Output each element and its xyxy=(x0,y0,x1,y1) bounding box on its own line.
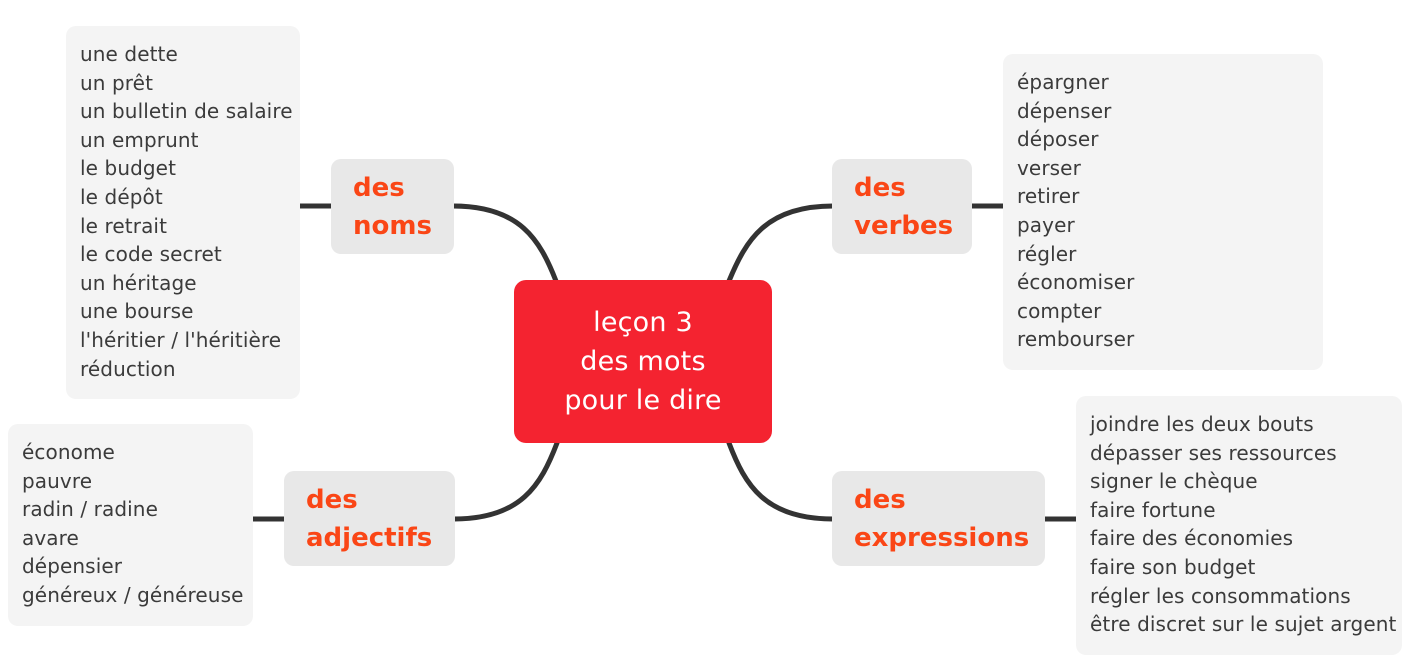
branch-label-adjectifs[interactable]: des adjectifs xyxy=(284,471,455,566)
branch-label-line: adjectifs xyxy=(306,519,432,557)
list-item: économe xyxy=(22,438,233,467)
list-item: faire fortune xyxy=(1090,496,1382,525)
list-item: dépasser ses ressources xyxy=(1090,439,1382,468)
list-item: pauvre xyxy=(22,467,233,496)
list-item: avare xyxy=(22,524,233,553)
list-item: un emprunt xyxy=(80,126,280,155)
list-item: le retrait xyxy=(80,212,280,241)
list-item: généreux / généreuse xyxy=(22,581,233,610)
list-item: une bourse xyxy=(80,297,280,326)
list-item: faire son budget xyxy=(1090,553,1382,582)
branch-label-verbes[interactable]: des verbes xyxy=(832,159,972,254)
branch-label-line: noms xyxy=(353,207,432,245)
leaf-list-adjectifs: économe pauvre radin / radine avare dépe… xyxy=(8,424,253,626)
connector-center-verbes xyxy=(729,206,833,281)
branch-label-line: des xyxy=(854,481,906,519)
list-item: le dépôt xyxy=(80,183,280,212)
leaf-list-noms: une dette un prêt un bulletin de salaire… xyxy=(66,26,300,399)
list-item: retirer xyxy=(1017,182,1303,211)
center-node-line: leçon 3 xyxy=(593,303,693,342)
list-item: joindre les deux bouts xyxy=(1090,410,1382,439)
list-item: faire des économies xyxy=(1090,524,1382,553)
branch-label-noms[interactable]: des noms xyxy=(331,159,454,254)
list-item: le code secret xyxy=(80,240,280,269)
leaf-list-expressions: joindre les deux bouts dépasser ses ress… xyxy=(1076,396,1402,655)
list-item: être discret sur le sujet argent xyxy=(1090,610,1382,639)
branch-label-line: des xyxy=(306,481,358,519)
branch-label-expressions[interactable]: des expressions xyxy=(832,471,1045,566)
list-item: un héritage xyxy=(80,269,280,298)
list-item: radin / radine xyxy=(22,495,233,524)
leaf-list-verbes: épargner dépenser déposer verser retirer… xyxy=(1003,54,1323,370)
list-item: régler les consommations xyxy=(1090,582,1382,611)
center-node-line: des mots xyxy=(580,342,705,381)
mindmap-canvas: une dette un prêt un bulletin de salaire… xyxy=(0,0,1410,668)
branch-label-line: verbes xyxy=(854,207,953,245)
list-item: une dette xyxy=(80,40,280,69)
connector-noms-center xyxy=(453,206,556,281)
list-item: un prêt xyxy=(80,69,280,98)
branch-label-line: des xyxy=(353,169,405,207)
list-item: un bulletin de salaire xyxy=(80,97,280,126)
list-item: rembourser xyxy=(1017,325,1303,354)
list-item: économiser xyxy=(1017,268,1303,297)
list-item: dépensier xyxy=(22,552,233,581)
branch-label-line: expressions xyxy=(854,519,1029,557)
center-node-line: pour le dire xyxy=(564,381,721,420)
list-item: l'héritier / l'héritière xyxy=(80,326,280,355)
list-item: compter xyxy=(1017,297,1303,326)
list-item: payer xyxy=(1017,211,1303,240)
list-item: réduction xyxy=(80,355,280,384)
branch-label-line: des xyxy=(854,169,906,207)
connector-adjectifs-center xyxy=(454,443,557,519)
list-item: déposer xyxy=(1017,125,1303,154)
list-item: régler xyxy=(1017,240,1303,269)
list-item: le budget xyxy=(80,154,280,183)
list-item: verser xyxy=(1017,154,1303,183)
list-item: épargner xyxy=(1017,68,1303,97)
list-item: signer le chèque xyxy=(1090,467,1382,496)
connector-center-expressions xyxy=(729,443,833,519)
center-node[interactable]: leçon 3 des mots pour le dire xyxy=(514,280,772,443)
list-item: dépenser xyxy=(1017,97,1303,126)
